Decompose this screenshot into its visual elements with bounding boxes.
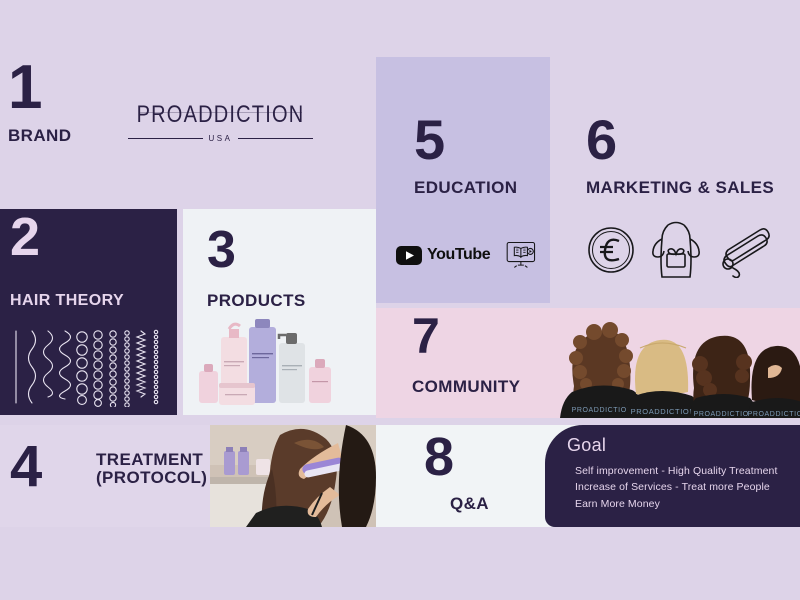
panel-caption-education: EDUCATION: [414, 179, 517, 197]
svg-text:PROADDICTION: PROADDICTION: [748, 411, 800, 418]
salon-apron-icon: [648, 219, 704, 281]
panel-number-2: 2: [10, 215, 38, 259]
youtube-label: YouTube: [427, 246, 490, 264]
panel-caption-brand: BRAND: [8, 127, 71, 145]
youtube-play-badge: [396, 246, 422, 265]
marketing-icon-row: [586, 215, 776, 285]
panel-number-5: 5: [414, 117, 443, 163]
panel-education: 5 EDUCATION YouTube: [376, 57, 550, 303]
hair-straightener-icon: [716, 222, 776, 278]
panel-caption-products: PRODUCTS: [207, 292, 306, 310]
goal-box: Goal Self improvement - High Quality Tre…: [545, 425, 800, 527]
panel-number-7: 7: [412, 316, 438, 357]
panel-community: 7 COMMUNITY PROADDICTION: [376, 308, 800, 418]
panel-number-4: 4: [10, 443, 40, 491]
panel-marketing-sales: 6 MARKETING & SALES: [556, 57, 800, 303]
proaddiction-logo: PROADDICTION USA: [128, 103, 313, 143]
panel-number-3: 3: [207, 229, 234, 272]
goal-lines: Self improvement - High Quality Treatmen…: [575, 463, 795, 512]
panel-caption-qa: Q&A: [450, 495, 489, 513]
goal-line-1: Self improvement - High Quality Treatmen…: [575, 463, 795, 479]
goal-title: Goal: [567, 435, 606, 456]
euro-coin-icon: [586, 225, 636, 275]
treatment-caption-line2: (PROTOCOL): [96, 468, 207, 487]
treatment-caption-line1: TREATMENT: [96, 450, 203, 469]
logo-rule-right: [238, 138, 313, 139]
panel-caption-marketing-sales: MARKETING & SALES: [586, 179, 774, 197]
education-icon-row: YouTube: [396, 229, 536, 281]
panel-brand: 1 BRAND PROADDICTION USA: [0, 55, 376, 209]
logo-usa-text: USA: [209, 134, 233, 143]
hair-curl-pattern-chart: [10, 327, 168, 407]
logo-wordmark: PROADDICTION: [137, 103, 305, 127]
logo-subline: USA: [128, 134, 313, 143]
panel-number-1: 1: [8, 63, 40, 114]
panel-caption-community: COMMUNITY: [412, 378, 520, 396]
svg-text:PROADDICTION: PROADDICTION: [694, 411, 755, 418]
panel-caption-hair-theory: HAIR THEORY: [10, 293, 124, 310]
slide-board: 1 BRAND PROADDICTION USA 2 HAIR THEORY: [0, 0, 800, 600]
panel-hair-theory: 2 HAIR THEORY: [0, 209, 177, 415]
panel-number-8: 8: [424, 435, 452, 479]
goal-line-2: Increase of Services - Treat more People: [575, 479, 795, 495]
elearning-monitor-icon: [506, 232, 536, 278]
salon-flat-iron-photo: [210, 425, 376, 527]
panel-treatment: 4 TREATMENT (PROTOCOL): [0, 425, 376, 527]
panel-products: 3 PRODUCTS: [183, 209, 376, 415]
product-lineup-photo: [193, 309, 368, 413]
svg-text:PROADDICTION: PROADDICTION: [572, 407, 633, 414]
panel-number-6: 6: [586, 117, 615, 163]
youtube-icon: YouTube: [396, 246, 490, 265]
panel-caption-treatment: TREATMENT (PROTOCOL): [96, 451, 214, 487]
four-women-hair-types-photo: PROADDICTION PROADDICTION PROADDICTION: [554, 308, 800, 418]
goal-line-3: Earn More Money: [575, 496, 795, 512]
logo-rule-left: [128, 138, 203, 139]
svg-text:PROADDICTION: PROADDICTION: [631, 407, 696, 416]
logo-strike-line: [139, 112, 303, 113]
